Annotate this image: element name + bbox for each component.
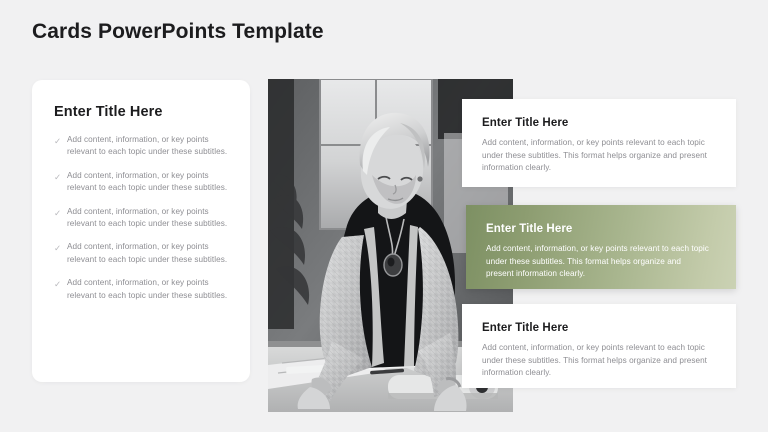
right-card-body: Add content, information, or key points … [482, 137, 710, 175]
right-content-card-1[interactable]: Enter Title Here Add content, informatio… [462, 99, 736, 187]
right-card-title: Enter Title Here [482, 117, 710, 129]
list-item-text: Add content, information, or key points … [67, 241, 228, 266]
right-content-card-3[interactable]: Enter Title Here Add content, informatio… [462, 304, 736, 388]
left-card-title: Enter Title Here [54, 104, 228, 120]
check-icon: ✓ [54, 242, 67, 255]
check-icon: ✓ [54, 135, 67, 148]
right-card-body: Add content, information, or key points … [486, 243, 710, 281]
check-icon: ✓ [54, 207, 67, 220]
list-item[interactable]: ✓ Add content, information, or key point… [54, 170, 228, 195]
list-item[interactable]: ✓ Add content, information, or key point… [54, 241, 228, 266]
check-icon: ✓ [54, 278, 67, 291]
list-item[interactable]: ✓ Add content, information, or key point… [54, 277, 228, 302]
bullet-list: ✓ Add content, information, or key point… [54, 134, 228, 302]
right-content-card-2-highlighted[interactable]: Enter Title Here Add content, informatio… [466, 205, 736, 289]
left-content-card[interactable]: Enter Title Here ✓ Add content, informat… [32, 80, 250, 382]
right-card-title: Enter Title Here [486, 223, 710, 235]
right-card-body: Add content, information, or key points … [482, 342, 710, 380]
check-icon: ✓ [54, 171, 67, 184]
list-item-text: Add content, information, or key points … [67, 277, 228, 302]
page-title: Cards PowerPoints Template [32, 20, 324, 44]
right-card-title: Enter Title Here [482, 322, 710, 334]
list-item[interactable]: ✓ Add content, information, or key point… [54, 206, 228, 231]
list-item-text: Add content, information, or key points … [67, 170, 228, 195]
list-item-text: Add content, information, or key points … [67, 206, 228, 231]
list-item[interactable]: ✓ Add content, information, or key point… [54, 134, 228, 159]
list-item-text: Add content, information, or key points … [67, 134, 228, 159]
slide-canvas: Cards PowerPoints Template Enter Title H… [0, 0, 768, 432]
